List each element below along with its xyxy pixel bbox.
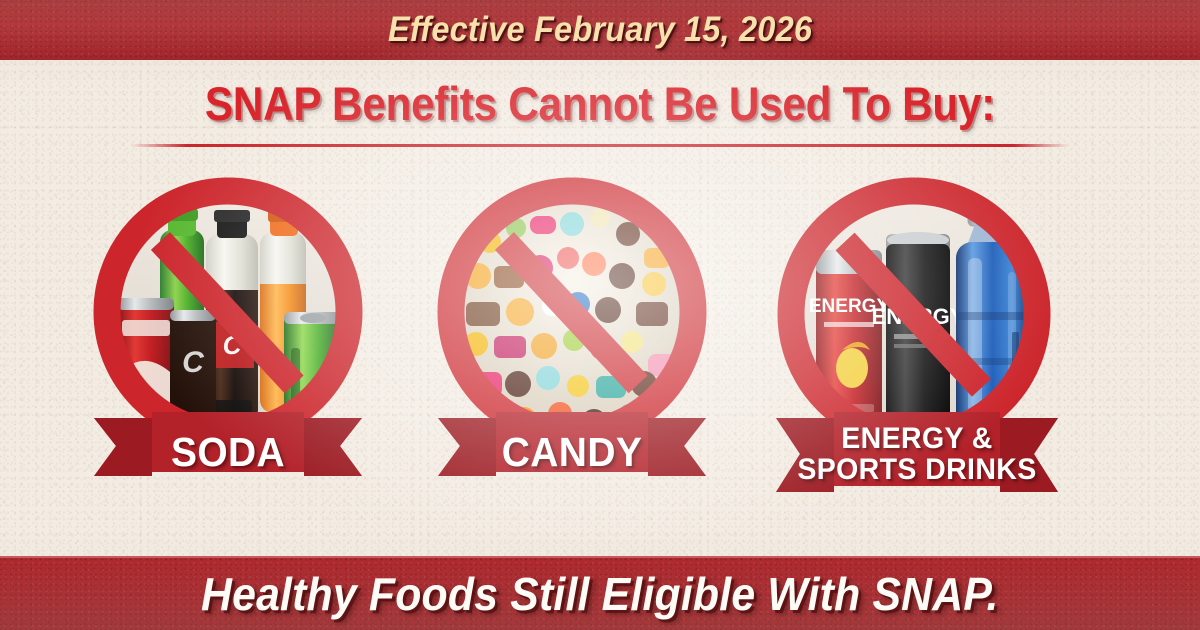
candy-ribbon (438, 412, 706, 476)
footer-banner: Healthy Foods Still Eligible With SNAP. (0, 556, 1200, 630)
energy-badge: ENERGY ENERGY (772, 172, 1062, 544)
svg-text:C: C (182, 346, 205, 379)
headline-container: SNAP Benefits Cannot Be Used To Buy: (0, 76, 1200, 131)
footer-text: Healthy Foods Still Eligible With SNAP. (201, 567, 999, 621)
snap-infographic-poster: Effective February 15, 2026 SNAP Benefit… (0, 0, 1200, 630)
effective-date-text: Effective February 15, 2026 (388, 10, 812, 50)
soda-ribbon (94, 412, 362, 476)
soda-badge: C (88, 172, 368, 544)
page-title: SNAP Benefits Cannot Be Used To Buy: (205, 76, 995, 131)
prohibited-item-candy: CANDY (432, 172, 712, 544)
prohibited-item-energy-sports-drinks: ENERGY ENERGY (772, 172, 1062, 544)
prohibited-items-row: C (0, 172, 1200, 544)
effective-date-banner: Effective February 15, 2026 (0, 0, 1200, 60)
candy-badge: CANDY (432, 172, 712, 544)
prohibited-item-soda: C (88, 172, 368, 544)
headline-divider (130, 144, 1070, 147)
energy-ribbon (776, 412, 1058, 492)
